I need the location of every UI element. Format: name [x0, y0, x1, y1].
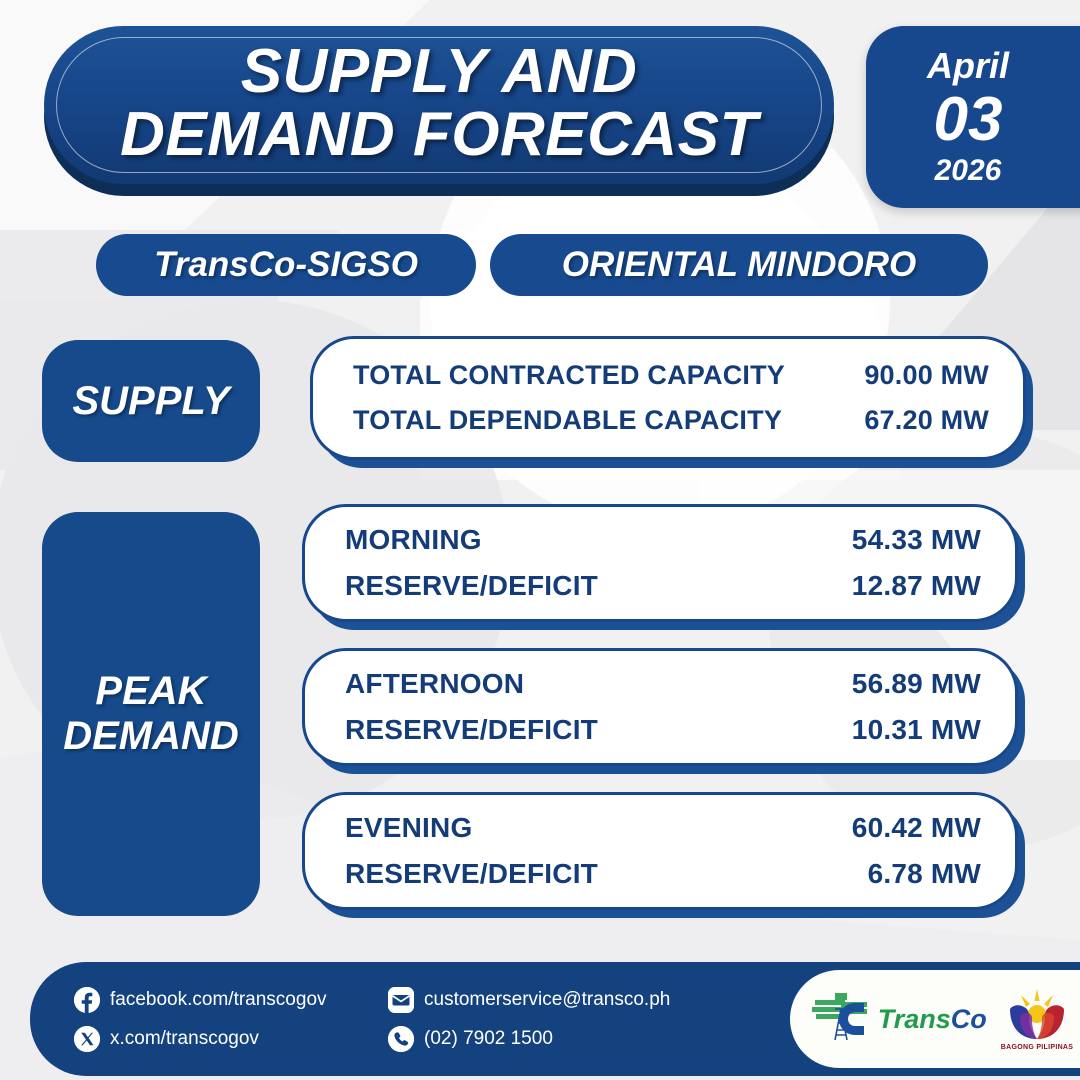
- title-block: SUPPLY AND DEMAND FORECAST: [44, 26, 834, 184]
- section-label-peak-demand: PEAK DEMAND: [42, 512, 260, 916]
- poster-canvas: SUPPLY AND DEMAND FORECAST April 03 2026…: [0, 0, 1080, 1080]
- row-value: 10.31 MW: [852, 714, 981, 746]
- row-value: 56.89 MW: [852, 668, 981, 700]
- row-value: 67.20 MW: [864, 405, 989, 436]
- row-value: 90.00 MW: [864, 360, 989, 391]
- supply-card: TOTAL CONTRACTED CAPACITY 90.00 MW TOTAL…: [310, 336, 1026, 460]
- peak-demand-card-afternoon: AFTERNOON 56.89 MW RESERVE/DEFICIT 10.31…: [302, 648, 1018, 766]
- date-year: 2026: [935, 156, 1002, 186]
- bagong-pilipinas-label: BAGONG PILIPINAS: [1001, 1044, 1073, 1051]
- contact-email-label: customerservice@transco.ph: [424, 989, 670, 1011]
- peak-label-line-2: DEMAND: [63, 714, 239, 759]
- section-label-supply: SUPPLY: [42, 340, 260, 462]
- row-label: AFTERNOON: [345, 668, 524, 700]
- x-twitter-icon: [74, 1026, 100, 1052]
- date-month: April: [927, 48, 1009, 84]
- contact-phone[interactable]: (02) 7902 1500: [388, 1026, 670, 1052]
- row-label: RESERVE/DEFICIT: [345, 570, 598, 602]
- logo-panel: TransCo: [790, 970, 1080, 1068]
- contact-list: facebook.com/transcogov customerservice@…: [74, 980, 670, 1058]
- table-row: RESERVE/DEFICIT 10.31 MW: [345, 707, 981, 753]
- contact-facebook[interactable]: facebook.com/transcogov: [74, 987, 374, 1013]
- row-label: TOTAL CONTRACTED CAPACITY: [353, 360, 785, 391]
- contact-email[interactable]: customerservice@transco.ph: [388, 987, 670, 1013]
- transco-wordmark: TransCo: [878, 1006, 987, 1033]
- contact-x-twitter[interactable]: x.com/transcogov: [74, 1026, 374, 1052]
- peak-demand-card-evening: EVENING 60.42 MW RESERVE/DEFICIT 6.78 MW: [302, 792, 1018, 910]
- row-value: 6.78 MW: [868, 858, 981, 890]
- row-label: RESERVE/DEFICIT: [345, 858, 598, 890]
- title-line-1: SUPPLY AND: [120, 40, 758, 103]
- peak-demand-card-morning: MORNING 54.33 MW RESERVE/DEFICIT 12.87 M…: [302, 504, 1018, 622]
- facebook-icon: [74, 987, 100, 1013]
- contact-facebook-label: facebook.com/transcogov: [110, 989, 327, 1011]
- table-row: RESERVE/DEFICIT 6.78 MW: [345, 851, 981, 897]
- bagong-pilipinas-icon: [1004, 987, 1070, 1043]
- table-row: AFTERNOON 56.89 MW: [345, 661, 981, 707]
- row-value: 12.87 MW: [852, 570, 981, 602]
- row-label: TOTAL DEPENDABLE CAPACITY: [353, 405, 782, 436]
- bagong-pilipinas-seal: BAGONG PILIPINAS: [1001, 987, 1073, 1051]
- email-icon: [388, 987, 414, 1013]
- table-row: TOTAL CONTRACTED CAPACITY 90.00 MW: [353, 353, 989, 398]
- row-label: RESERVE/DEFICIT: [345, 714, 598, 746]
- date-day: 03: [934, 86, 1003, 154]
- contact-phone-label: (02) 7902 1500: [424, 1028, 553, 1050]
- page-title: SUPPLY AND DEMAND FORECAST: [120, 40, 758, 170]
- footer-bar: facebook.com/transcogov customerservice@…: [30, 962, 1080, 1076]
- table-row: RESERVE/DEFICIT 12.87 MW: [345, 563, 981, 609]
- row-value: 54.33 MW: [852, 524, 981, 556]
- row-label: EVENING: [345, 812, 472, 844]
- badge-area: ORIENTAL MINDORO: [490, 234, 988, 296]
- transco-word-co: Co: [951, 1004, 987, 1034]
- transco-word-trans: Trans: [878, 1004, 951, 1034]
- transco-logo: TransCo: [811, 990, 987, 1048]
- table-row: TOTAL DEPENDABLE CAPACITY 67.20 MW: [353, 398, 989, 443]
- title-line-2: DEMAND FORECAST: [120, 103, 758, 166]
- date-badge: April 03 2026: [866, 26, 1080, 208]
- peak-label-line-1: PEAK: [63, 669, 239, 714]
- phone-icon: [388, 1026, 414, 1052]
- transco-mark-icon: [811, 990, 873, 1048]
- row-value: 60.42 MW: [852, 812, 981, 844]
- badge-organization: TransCo-SIGSO: [96, 234, 476, 296]
- table-row: EVENING 60.42 MW: [345, 805, 981, 851]
- row-label: MORNING: [345, 524, 482, 556]
- table-row: MORNING 54.33 MW: [345, 517, 981, 563]
- contact-x-label: x.com/transcogov: [110, 1028, 259, 1050]
